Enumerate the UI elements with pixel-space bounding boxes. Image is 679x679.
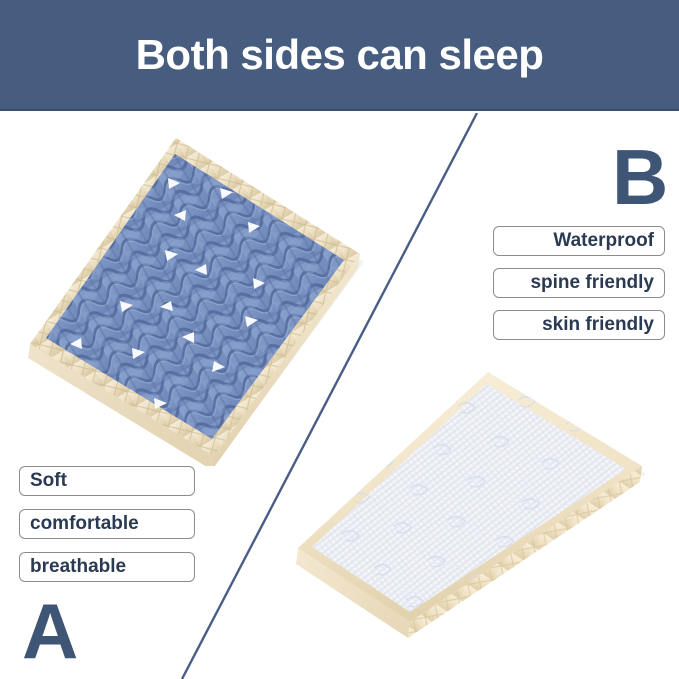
badge-waterproof[interactable]: Waterproof [493, 226, 665, 256]
badge-comfortable[interactable]: comfortable [19, 509, 195, 539]
side-label-a: A [22, 592, 78, 670]
header-banner: Both sides can sleep [0, 0, 679, 111]
badge-soft[interactable]: Soft [19, 466, 195, 496]
badge-spine-friendly[interactable]: spine friendly [493, 268, 665, 298]
mattress-b-image [290, 362, 670, 652]
product-feature-graphic: Both sides can sleep [0, 0, 679, 679]
side-label-b: B [612, 138, 668, 216]
page-title: Both sides can sleep [136, 34, 544, 76]
badge-breathable[interactable]: breathable [19, 552, 195, 582]
badge-skin-friendly[interactable]: skin friendly [493, 310, 665, 340]
